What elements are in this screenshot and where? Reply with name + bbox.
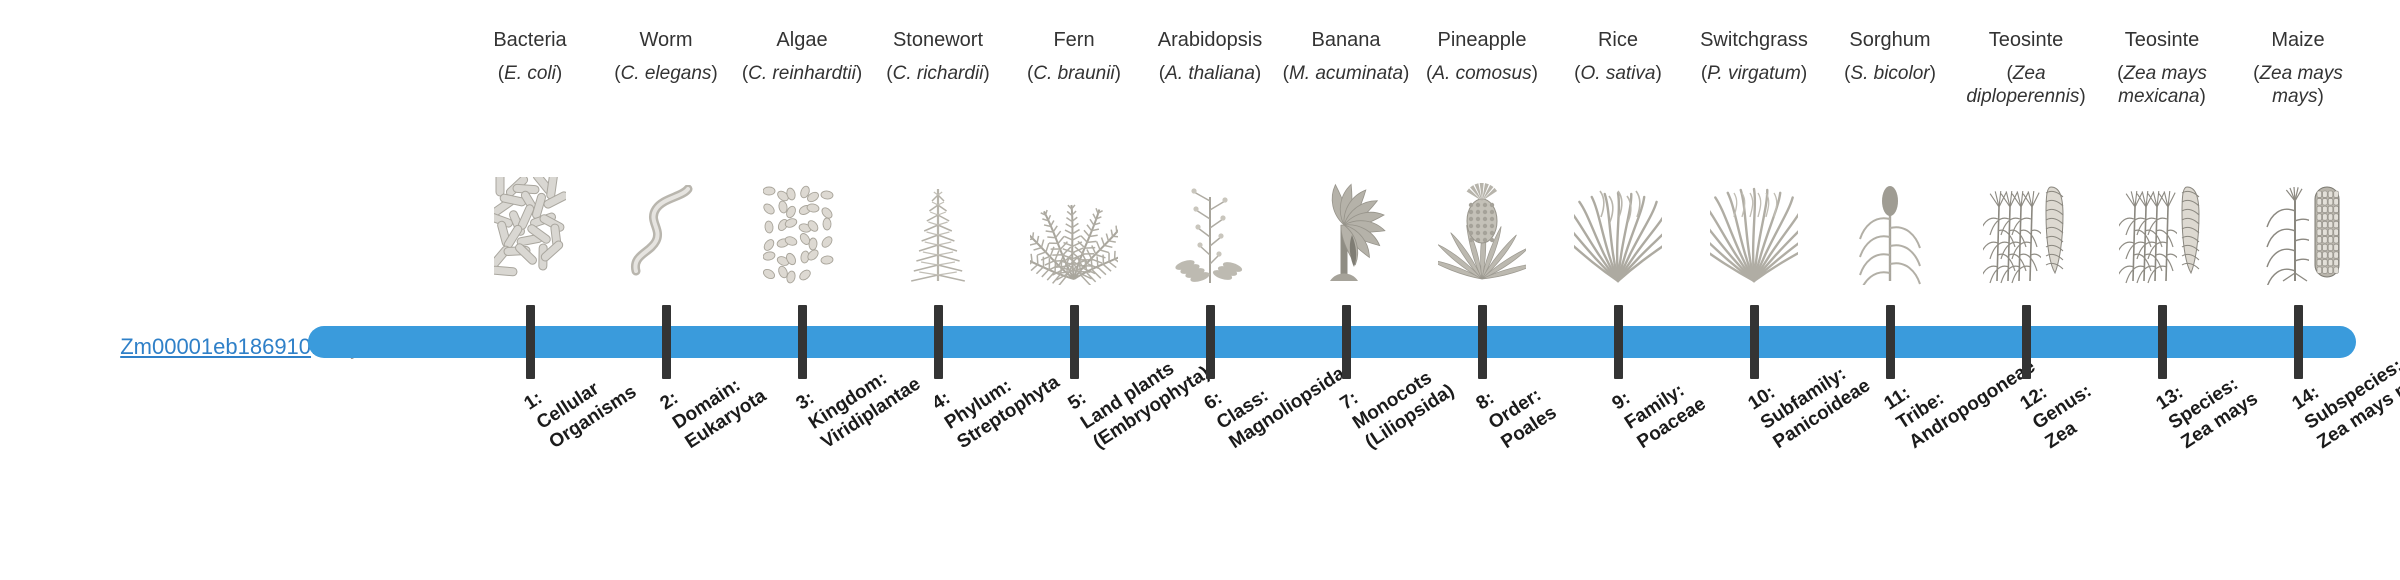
taxon-column: Teosinte(Zea diploperennis) — [1958, 28, 2094, 112]
sorghum-illustration — [1822, 165, 1958, 285]
taxon-scientific-name: (Zea mays mexicana) — [2094, 62, 2230, 112]
taxon-common-name: Arabidopsis — [1142, 28, 1278, 54]
teosinte-plant-and-ear-illustration — [1958, 165, 2094, 285]
taxon-column: Teosinte(Zea mays mexicana) — [2094, 28, 2230, 112]
algae-cells-illustration — [734, 165, 870, 285]
arabidopsis-illustration — [1142, 165, 1278, 285]
banana-plant-illustration — [1278, 165, 1414, 285]
phylostratum-tick — [526, 305, 535, 379]
taxon-column: Arabidopsis(A. thaliana) — [1142, 28, 1278, 112]
taxon-column: Stonewort(C. richardii) — [870, 28, 1006, 112]
maize-plant-and-ear-illustration — [2230, 165, 2366, 285]
teosinte-mexicana-plant-and-ear-illustration — [2094, 165, 2230, 285]
taxon-scientific-name: (A. thaliana) — [1142, 62, 1278, 112]
taxon-scientific-name-text: P. virgatum — [1707, 63, 1801, 84]
taxon-scientific-name-text: A. thaliana — [1165, 63, 1255, 84]
phylostratum-tick — [662, 305, 671, 379]
taxon-scientific-name-text: Zea diploperennis — [1966, 63, 2079, 107]
phylostratum-tick — [1750, 305, 1759, 379]
phylostratum-tick — [1070, 305, 1079, 379]
taxon-scientific-name: (S. bicolor) — [1822, 62, 1958, 112]
phylostratum-tick — [1342, 305, 1351, 379]
taxon-scientific-name: (C. richardii) — [870, 62, 1006, 112]
taxon-column: Fern(C. braunii) — [1006, 28, 1142, 112]
taxon-scientific-name-text: Zea mays mexicana — [2118, 63, 2207, 107]
taxon-column: Maize(Zea mays mays) — [2230, 28, 2366, 112]
taxon-common-name: Stonewort — [870, 28, 1006, 54]
taxon-scientific-name: (C. reinhardtii) — [734, 62, 870, 112]
taxon-scientific-name: (O. sativa) — [1550, 62, 1686, 112]
taxon-common-name: Sorghum — [1822, 28, 1958, 54]
taxon-common-name: Maize — [2230, 28, 2366, 54]
taxon-common-name: Worm — [598, 28, 734, 54]
taxon-column: Worm(C. elegans) — [598, 28, 734, 112]
taxon-scientific-name: (P. virgatum) — [1686, 62, 1822, 112]
phylostratigraphy-diagram: Zm00001eb186910: Phylostratum 1 Bacteria… — [0, 0, 2400, 580]
taxon-common-name: Teosinte — [1958, 28, 2094, 54]
taxon-scientific-name: (A. comosus) — [1414, 62, 1550, 112]
taxon-scientific-name-text: S. bicolor — [1850, 63, 1929, 84]
taxon-scientific-name: (C. braunii) — [1006, 62, 1142, 112]
taxon-column: Switchgrass(P. virgatum) — [1686, 28, 1822, 112]
taxon-scientific-name: (Zea mays mays) — [2230, 62, 2366, 112]
taxon-common-name: Switchgrass — [1686, 28, 1822, 54]
phylostratum-tick — [2022, 305, 2031, 379]
pineapple-illustration — [1414, 165, 1550, 285]
taxon-scientific-name-text: A. comosus — [1432, 63, 1531, 84]
phylostratum-tick — [798, 305, 807, 379]
taxon-column: Sorghum(S. bicolor) — [1822, 28, 1958, 112]
taxon-common-name: Banana — [1278, 28, 1414, 54]
phylostratum-tick — [934, 305, 943, 379]
gene-id-link[interactable]: Zm00001eb186910 — [120, 334, 311, 359]
taxon-scientific-name: (E. coli) — [462, 62, 598, 112]
taxon-column: Bacteria(E. coli) — [462, 28, 598, 112]
taxon-column: Rice(O. sativa) — [1550, 28, 1686, 112]
taxon-scientific-name: (M. acuminata) — [1278, 62, 1414, 112]
taxon-scientific-name-text: M. acuminata — [1289, 63, 1403, 84]
taxon-column: Algae(C. reinhardtii) — [734, 28, 870, 112]
taxon-common-name: Teosinte — [2094, 28, 2230, 54]
taxon-scientific-name-text: E. coli — [504, 63, 556, 84]
rice-plant-illustration — [1550, 165, 1686, 285]
phylostratum-tick — [1206, 305, 1215, 379]
taxon-scientific-name-text: C. reinhardtii — [748, 63, 856, 84]
phylostratum-tick — [1886, 305, 1895, 379]
taxon-scientific-name-text: C. elegans — [621, 63, 712, 84]
phylostratum-tick — [1614, 305, 1623, 379]
taxon-scientific-name-text: O. sativa — [1581, 63, 1656, 84]
taxon-scientific-name-text: C. richardii — [893, 63, 984, 84]
taxon-common-name: Algae — [734, 28, 870, 54]
taxon-scientific-name: (C. elegans) — [598, 62, 734, 112]
taxon-scientific-name: (Zea diploperennis) — [1958, 62, 2094, 112]
nematode-worm-illustration — [598, 165, 734, 285]
taxon-column: Pineapple(A. comosus) — [1414, 28, 1550, 112]
phylostratum-tick — [2294, 305, 2303, 379]
bacteria-illustration — [462, 165, 598, 285]
taxon-common-name: Pineapple — [1414, 28, 1550, 54]
switchgrass-illustration — [1686, 165, 1822, 285]
taxon-common-name: Rice — [1550, 28, 1686, 54]
stonewort-illustration — [870, 165, 1006, 285]
phylostratum-tick — [1478, 305, 1487, 379]
phylostratum-tick — [2158, 305, 2167, 379]
taxon-common-name: Bacteria — [462, 28, 598, 54]
taxon-column: Banana(M. acuminata) — [1278, 28, 1414, 112]
fern-illustration — [1006, 165, 1142, 285]
taxon-scientific-name-text: Zea mays mays — [2259, 63, 2342, 107]
taxon-scientific-name-text: C. braunii — [1033, 63, 1114, 84]
taxon-common-name: Fern — [1006, 28, 1142, 54]
